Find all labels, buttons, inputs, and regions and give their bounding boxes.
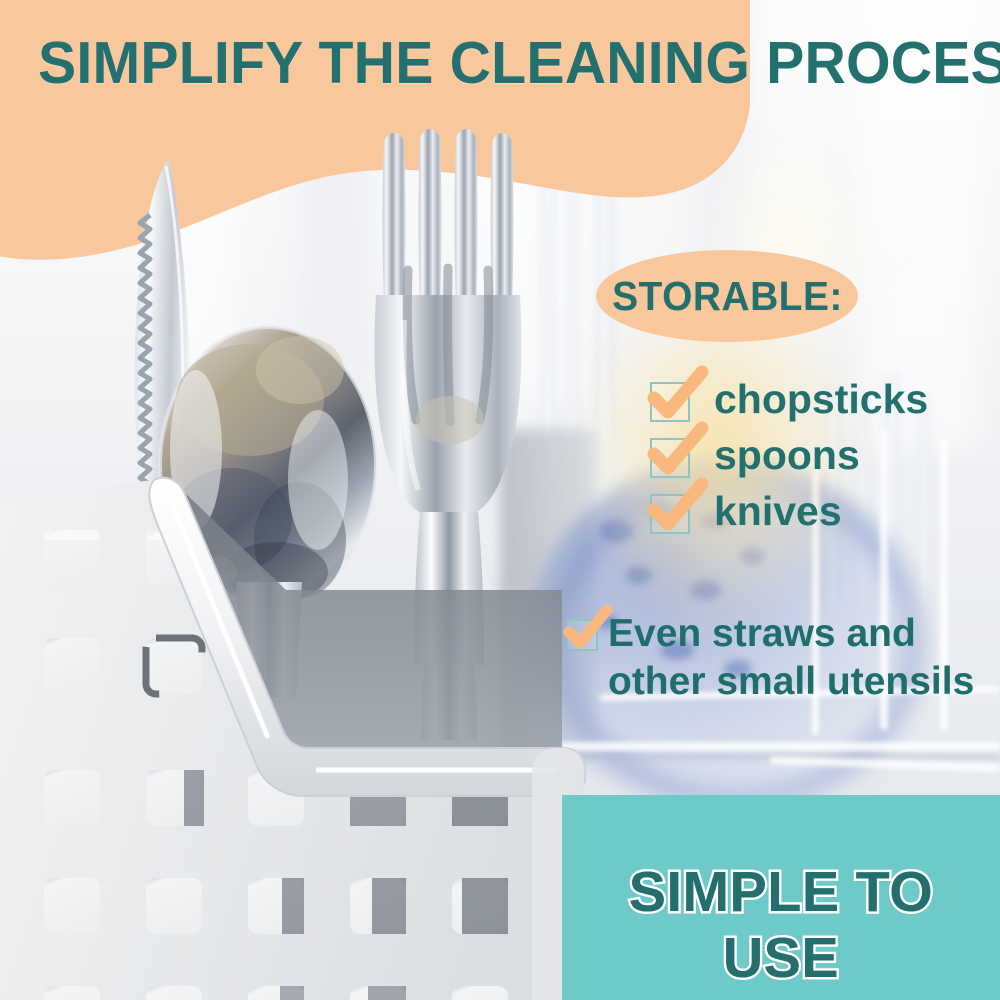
extra-line-2: other small utensils — [608, 658, 974, 706]
list-item-label: knives — [714, 490, 842, 532]
checkbox-icon[interactable] — [650, 382, 690, 422]
storable-label: STORABLE: — [612, 273, 843, 320]
check-icon — [648, 424, 708, 480]
page-title: SIMPLIFY THE CLEANING PROCESS — [38, 34, 960, 93]
list-item[interactable]: knives — [650, 490, 928, 534]
check-icon — [648, 368, 708, 424]
checkbox-icon[interactable] — [650, 494, 690, 534]
list-item[interactable]: spoons — [650, 434, 928, 478]
checkbox-icon[interactable] — [650, 438, 690, 478]
list-item[interactable]: chopsticks — [650, 378, 928, 422]
rack-wire — [560, 742, 1000, 751]
list-item-label: chopsticks — [714, 378, 928, 420]
checkbox-icon[interactable] — [566, 619, 598, 651]
infographic-canvas: SIMPLIFY THE CLEANING PROCESS — [0, 0, 1000, 1000]
list-item-extra-text: Even straws and other small utensils — [608, 610, 974, 706]
cta-panel: SIMPLE TO USE SIMPLE TO USE — [562, 795, 1000, 1000]
extra-line-1: Even straws and — [608, 610, 974, 658]
list-item-label: spoons — [714, 434, 860, 476]
check-icon — [564, 607, 612, 653]
check-icon — [648, 480, 708, 536]
storable-checklist: chopsticks spoons knives — [650, 378, 928, 546]
cta-label: SIMPLE TO USE — [566, 859, 995, 991]
cutlery-caddy[interactable] — [0, 470, 586, 1000]
list-item-extra[interactable]: Even straws and other small utensils — [566, 610, 974, 706]
storable-badge: STORABLE: — [596, 250, 858, 342]
